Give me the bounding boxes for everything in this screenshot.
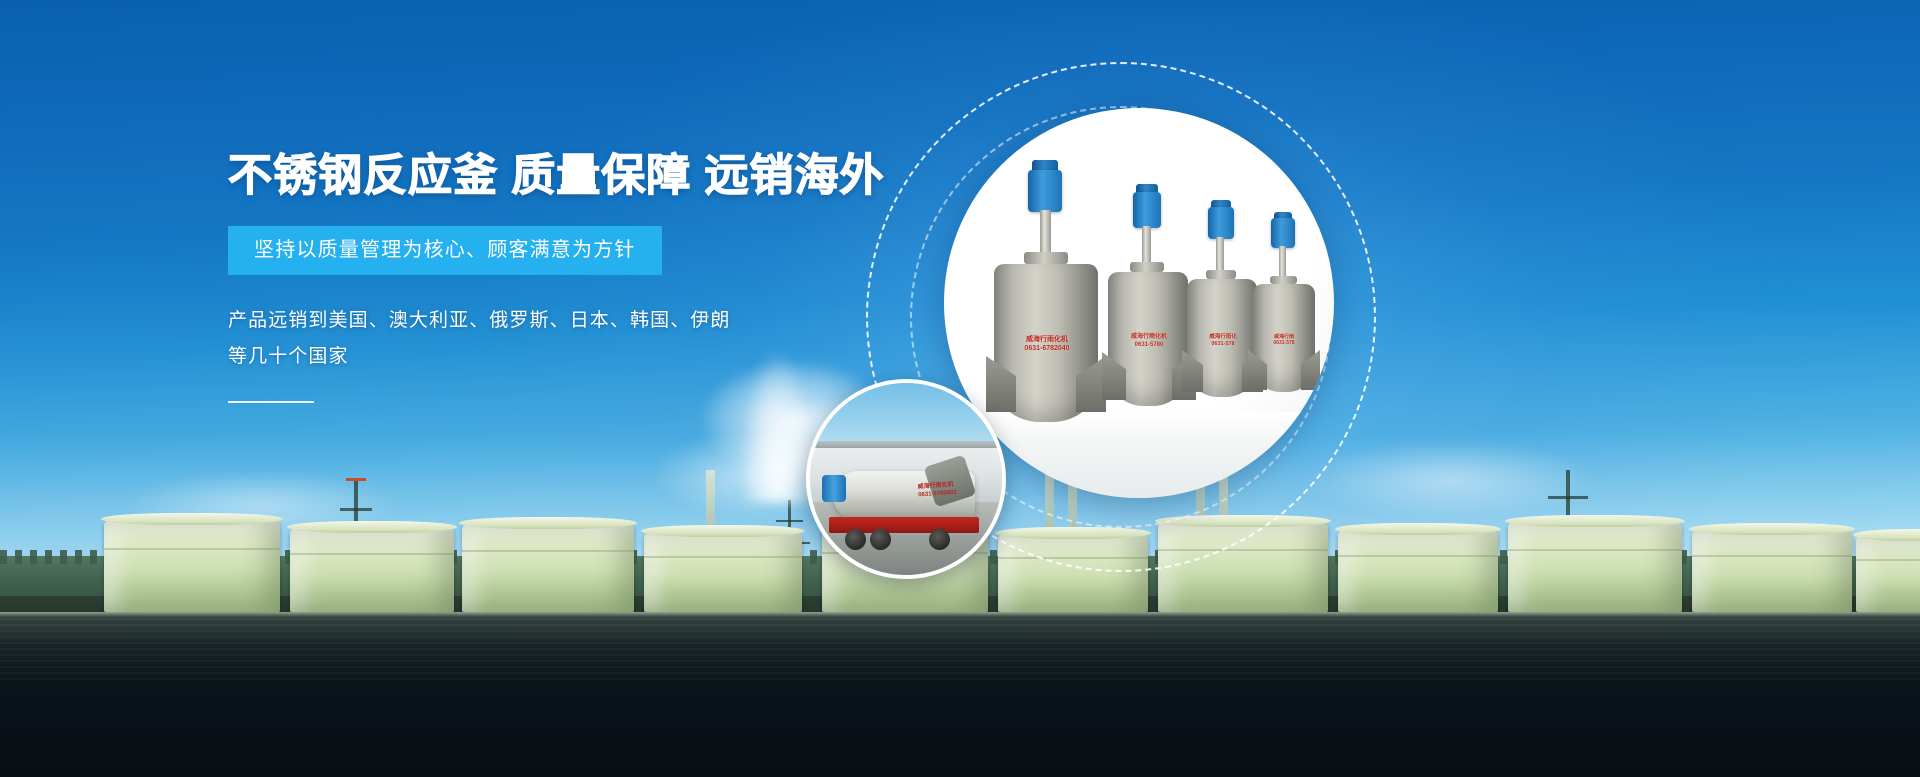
reactor-vessel: 威海行雨 0631-578 [1248, 212, 1320, 406]
storage-tank [644, 532, 802, 612]
storage-tank [290, 528, 454, 612]
product-photo-circle: 威海行雨化机 0631-6782040 威海行雨化机 0631-5780 [944, 108, 1334, 498]
reactor-vessel: 威海行雨化机 0631-5780 [1102, 184, 1194, 420]
tanker-wheel [870, 529, 891, 550]
storage-tank [104, 520, 280, 612]
vessel-label: 威海行雨化机 0631-6782040 [1006, 336, 1088, 354]
banner-paragraph: 产品远销到美国、澳大利亚、俄罗斯、日本、韩国、伊朗 等几十个国家 [228, 303, 748, 375]
banner-copy: 不锈钢反应釜 质量保障 远销海外 坚持以质量管理为核心、顾客满意为方针 产品远销… [228, 150, 928, 403]
storage-tank [462, 524, 634, 612]
storage-tank [1338, 530, 1498, 612]
secondary-photo-circle: 威海行雨化机 0631-5780602 [806, 379, 1006, 579]
storage-tank [1508, 522, 1682, 612]
paragraph-line-1: 产品远销到美国、澳大利亚、俄罗斯、日本、韩国、伊朗 [228, 310, 731, 331]
tanker-wheel [929, 529, 950, 550]
storage-tank [1856, 536, 1920, 612]
water-reflection [0, 612, 1920, 682]
tanker-motor [822, 475, 847, 502]
decorative-divider [228, 401, 314, 403]
vessel-label: 威海行雨化 0631-578 [1194, 334, 1252, 348]
banner-subtitle-bar: 坚持以质量管理为核心、顾客满意为方针 [228, 226, 662, 275]
storage-tank [1692, 530, 1852, 612]
banner-headline: 不锈钢反应釜 质量保障 远销海外 [228, 150, 928, 202]
water-foreground [0, 612, 1920, 777]
tanker-label: 威海行雨化机 0631-5780602 [917, 481, 957, 499]
vessel-label: 威海行雨 0631-578 [1258, 334, 1310, 347]
paragraph-line-2: 等几十个国家 [228, 346, 349, 367]
vessel-label: 威海行雨化机 0631-5780 [1116, 334, 1182, 349]
hero-banner: 不锈钢反应釜 质量保障 远销海外 坚持以质量管理为核心、顾客满意为方针 产品远销… [0, 0, 1920, 777]
tanker-wheel [845, 529, 866, 550]
smoke-plume [742, 352, 812, 502]
reactor-vessel: 威海行雨化机 0631-6782040 [988, 160, 1104, 428]
